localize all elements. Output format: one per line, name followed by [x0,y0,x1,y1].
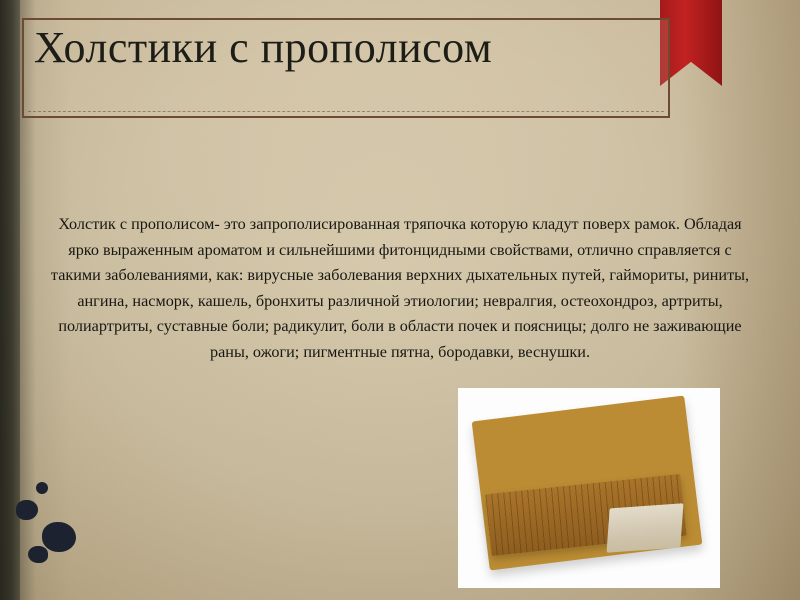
body-paragraph: Холстик с прополисом- это запрополисиров… [44,212,756,365]
ink-blot-icon [36,482,48,494]
ink-blot-decoration [8,470,98,580]
ink-blot-icon [16,500,38,520]
cloth-fold-highlight [607,503,684,552]
ink-blot-icon [28,546,48,563]
page-title: Холстики с прополисом [34,22,634,74]
propolis-cloth-photo [458,388,720,588]
ink-blot-icon [42,522,76,552]
slide-canvas: Холстики с прополисом Холстик с прополис… [0,0,800,600]
